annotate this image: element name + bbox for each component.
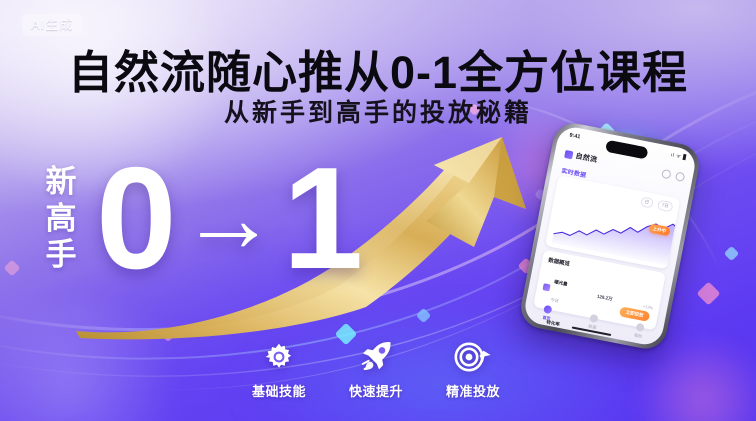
- phone-mockup: 9:41 ıl ᯤ ▊ 自然流 实时数据 日 7日: [518, 120, 703, 352]
- feature-basic-skills[interactable]: 基础技能: [236, 340, 322, 400]
- vertical-tag: 新 高 手: [38, 166, 84, 272]
- particle-diamond: [416, 308, 432, 324]
- list-item-subtitle: 今日: [543, 337, 552, 343]
- list-item-icon: [535, 323, 543, 331]
- feature-row: 基础技能 快速提升: [236, 340, 516, 400]
- home-icon: [543, 305, 552, 314]
- page-title: 自然流随心推从0-1全方位课程: [0, 36, 756, 101]
- app-header: 自然流: [564, 149, 598, 165]
- particle-diamond: [724, 246, 740, 262]
- vertical-tag-char: 新: [46, 166, 77, 199]
- background-glow-left: [0, 300, 200, 421]
- list-item-icon: [543, 283, 551, 291]
- user-icon: [635, 323, 644, 332]
- profile-icon[interactable]: [675, 172, 686, 183]
- promo-banner: AI生成 自然流随心推从0-1全方位课程 从新手到高手的投放秘籍 新 高 手: [0, 0, 756, 421]
- list-item-value: 128.2万: [596, 294, 613, 303]
- tab-label: 首页: [542, 315, 551, 322]
- status-indicators: ıl ᯤ ▊: [670, 152, 688, 161]
- list-item-value: 8.6%: [591, 335, 602, 342]
- hero-number-to: 1: [283, 146, 362, 291]
- tab-label: 我的: [634, 332, 643, 339]
- list-item-delta: +12%: [642, 303, 653, 310]
- particle-diamond: [4, 260, 21, 277]
- arrow-right-icon: →: [181, 171, 277, 267]
- status-time: 9:41: [569, 132, 581, 140]
- zero-to-one-headline: 0 → 1: [96, 146, 361, 291]
- feature-label: 快速提升: [349, 381, 403, 400]
- feature-label: 基础技能: [252, 381, 306, 400]
- particle-diamond: [293, 297, 313, 317]
- feature-fast-growth[interactable]: 快速提升: [333, 340, 419, 400]
- ai-watermark: AI生成: [22, 14, 82, 36]
- particle-diamond: [696, 281, 720, 305]
- gear-icon: [263, 340, 295, 374]
- vertical-tag-char: 高: [46, 203, 77, 236]
- feature-label: 精准投放: [446, 381, 500, 400]
- app-logo-icon: [564, 150, 573, 159]
- feature-precise-targeting[interactable]: 精准投放: [430, 340, 516, 400]
- page-subtitle: 从新手到高手的投放秘籍: [0, 93, 756, 129]
- background-glow-pink-right: [628, 340, 756, 421]
- list-item-title: 曝光量: [554, 279, 568, 286]
- particle-diamond: [161, 328, 175, 342]
- phone-frame: 9:41 ıl ᯤ ▊ 自然流 实时数据 日 7日: [518, 120, 703, 352]
- list-item-subtitle: 今日: [550, 297, 559, 303]
- list-item-delta: +3.1%: [634, 343, 646, 347]
- rocket-icon: [359, 340, 393, 374]
- app-name: 自然流: [575, 151, 598, 165]
- hero-number-from: 0: [96, 146, 175, 291]
- phone-screen: 9:41 ıl ᯤ ▊ 自然流 实时数据 日 7日: [522, 124, 698, 347]
- search-icon[interactable]: [661, 169, 672, 180]
- vertical-tag-char: 手: [46, 239, 77, 272]
- target-icon: [454, 340, 492, 374]
- phone-notch: [605, 140, 649, 160]
- chart-icon: [589, 314, 598, 323]
